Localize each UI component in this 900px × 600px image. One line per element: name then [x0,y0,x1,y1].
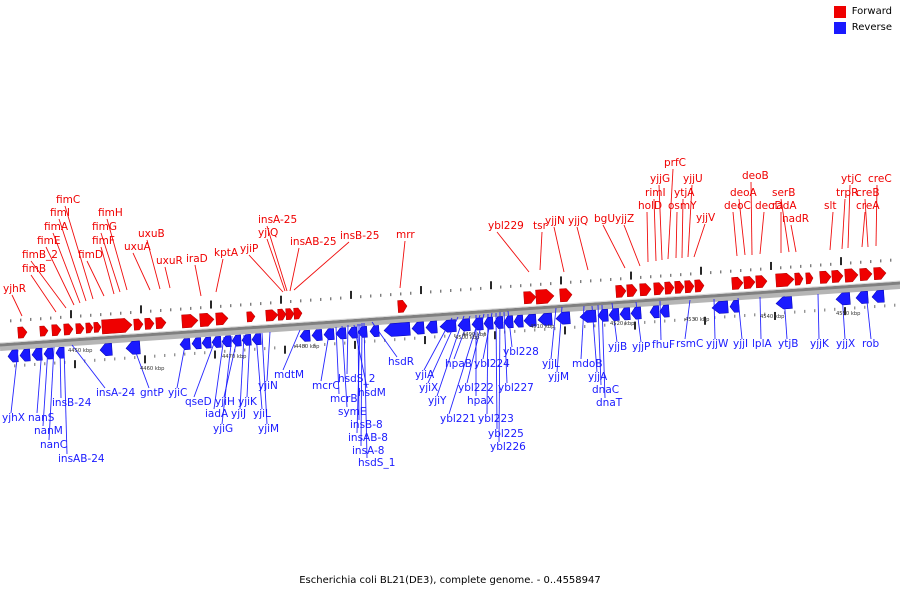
forward-gene-label[interactable]: fimE [37,235,60,247]
reverse-gene-label[interactable]: insA-24 [96,387,135,399]
reverse-gene-label[interactable]: mcrB [330,393,358,405]
reverse-gene-label[interactable]: ybl228 [503,346,539,358]
reverse-gene-arrow[interactable] [20,349,31,362]
reverse-gene-arrow[interactable] [484,317,494,330]
forward-gene-label[interactable]: deoB [742,170,769,182]
scale-tick-label: 4470 kbp [222,354,247,360]
forward-gene-arrow[interactable] [294,308,303,320]
forward-gene-arrow[interactable] [18,327,28,339]
forward-gene-label[interactable]: ytjC [841,173,862,185]
forward-gene-arrow[interactable] [52,324,62,336]
forward-gene-arrow[interactable] [286,308,295,320]
forward-gene-label[interactable]: holD [638,200,662,212]
forward-gene-label[interactable]: osmY [668,200,697,212]
forward-gene-label[interactable]: fimD [78,249,103,261]
reverse-gene-arrow[interactable] [312,329,323,341]
reverse-gene-label[interactable]: yjjL [542,358,560,370]
reverse-gene-arrow[interactable] [100,343,113,356]
reverse-gene-label[interactable]: insA-8 [352,445,384,457]
forward-gene-arrow[interactable] [756,275,768,288]
reverse-gene-arrow[interactable] [202,337,212,349]
forward-gene-arrow[interactable] [627,284,638,297]
reverse-gene-label[interactable]: ybl226 [490,441,526,453]
forward-gene-label[interactable]: yjiP [240,243,258,255]
forward-gene-label[interactable]: uxuR [156,255,183,267]
forward-gene-label[interactable]: iraD [186,253,208,265]
reverse-gene-arrow[interactable] [730,300,740,313]
forward-gene-label[interactable]: fimB_2 [22,249,58,261]
forward-gene-label[interactable]: rimI [645,187,666,199]
forward-gene-label[interactable]: ytjA [674,187,695,199]
forward-gene-label[interactable]: mrr [396,229,415,241]
genome-map-view: yjhRfimBfimB_2fimEfimAfimIfimCfimDfimFfi… [0,0,900,600]
forward-gene-label[interactable]: fimC [56,194,80,206]
forward-gene-arrow[interactable] [86,323,94,333]
reverse-gene-label[interactable]: hsdR [388,356,414,368]
reverse-gene-arrow[interactable] [620,308,631,321]
reverse-gene-arrow[interactable] [44,348,54,360]
reverse-gene-arrow[interactable] [660,305,670,318]
reverse-gene-label[interactable]: yjiA [415,369,435,381]
forward-gene-label[interactable]: uxuA [124,241,152,253]
forward-gene-labels[interactable]: yjhRfimBfimB_2fimEfimAfimIfimCfimDfimFfi… [3,157,892,295]
scale-tick-label: 4450 kbp [68,348,93,354]
forward-gene-label[interactable]: fimA [44,221,69,233]
reverse-gene-arrow[interactable] [336,328,347,340]
forward-gene-arrow[interactable] [145,318,155,330]
reverse-gene-arrow[interactable] [192,338,202,350]
forward-gene-arrow[interactable] [266,309,279,321]
reverse-gene-label[interactable]: hsdS_1 [358,457,395,469]
forward-gene-label[interactable]: creA [856,200,880,212]
reverse-gene-label[interactable]: yjjA [588,371,608,383]
forward-gene-arrow[interactable] [832,270,844,283]
forward-color-swatch-icon [834,6,846,18]
reverse-gene-arrow[interactable] [426,321,438,334]
reverse-gene-label[interactable]: yjjW [706,338,729,350]
forward-gene-label[interactable]: creB [856,187,880,199]
reverse-gene-label[interactable]: yjiJ [231,408,246,420]
forward-gene-arrow[interactable] [776,273,795,287]
reverse-gene-labels[interactable]: yjhXnanSnanMnanCinsB-24insA-24insAB-24gn… [2,338,880,469]
reverse-gene-arrow[interactable] [556,312,571,325]
reverse-gene-arrow[interactable] [384,322,411,337]
reverse-gene-arrow[interactable] [598,309,609,322]
forward-gene-arrow[interactable] [247,311,256,322]
reverse-gene-label[interactable]: yjiY [428,395,447,407]
reverse-color-swatch-icon [834,22,846,34]
legend-label-reverse: Reverse [852,22,892,34]
forward-gene-arrow[interactable] [806,273,814,284]
legend-item-forward: Forward [834,6,892,18]
forward-gene-label[interactable]: yjjV [696,212,716,224]
reverse-gene-arrow[interactable] [514,315,524,328]
reverse-gene-label[interactable]: hpaB [445,358,472,370]
reverse-gene-label[interactable]: ytjB [778,338,798,350]
forward-gene-label[interactable]: yjhR [3,283,26,295]
reverse-gene-label[interactable]: ybl221 [440,413,476,425]
forward-gene-arrow[interactable] [860,268,873,281]
forward-gene-label[interactable]: deoA [730,187,758,199]
reverse-gene-label[interactable]: rob [862,338,880,350]
reverse-gene-label[interactable]: hsdM [358,387,386,399]
reverse-gene-label[interactable]: yjiK [238,396,258,408]
reverse-gene-label[interactable]: qseD [185,396,212,408]
scale-tick-label: 4460 kbp [140,366,165,372]
forward-gene-arrow[interactable] [820,271,832,284]
forward-gene-arrow[interactable] [845,268,859,282]
reverse-gene-label[interactable]: nanM [34,425,63,437]
reverse-gene-arrow[interactable] [580,310,597,323]
reverse-gene-label[interactable]: yjjM [548,371,569,383]
reverse-gene-arrow[interactable] [358,326,368,338]
forward-gene-label[interactable]: slt [824,200,837,212]
reverse-gene-label[interactable]: ybl223 [478,413,514,425]
legend: Forward Reverse [834,6,892,38]
reverse-gene-label[interactable]: yjiG [213,423,233,435]
reverse-gene-label[interactable]: nanC [40,439,67,451]
reverse-gene-label[interactable]: insAB-24 [58,453,105,465]
reverse-gene-label[interactable]: yjhX [2,412,25,424]
reverse-gene-arrow[interactable] [494,316,504,329]
legend-label-forward: Forward [852,6,892,18]
forward-gene-arrow[interactable] [200,313,215,327]
forward-gene-arrow[interactable] [524,291,537,304]
reverse-gene-label[interactable]: yjiN [258,380,278,392]
forward-gene-arrow[interactable] [874,267,887,280]
reverse-gene-label[interactable]: yjjX [836,338,855,350]
forward-gene-arrow[interactable] [156,317,167,329]
forward-gene-arrow[interactable] [102,318,133,334]
forward-gene-label[interactable]: insA-25 [258,214,297,226]
reverse-gene-label[interactable]: mcrC [312,380,340,392]
forward-gene-label[interactable]: fimI [50,207,70,219]
forward-gene-label[interactable]: insB-25 [340,230,379,242]
forward-gene-label[interactable]: yjjG [650,173,670,185]
forward-gene-label[interactable]: fimB [22,263,46,275]
legend-item-reverse: Reverse [834,22,892,34]
reverse-gene-arrow[interactable] [126,341,141,355]
forward-gene-label[interactable]: insAB-25 [290,236,337,248]
reverse-gene-label[interactable]: hsdS_2 [338,373,375,385]
reverse-gene-label[interactable]: yjjB [608,341,627,353]
reverse-gene-label[interactable]: ybl224 [474,358,510,370]
reverse-gene-label[interactable]: yjjP [632,341,650,353]
forward-gene-arrow[interactable] [134,319,144,331]
reverse-gene-arrow[interactable] [872,290,885,303]
forward-gene-label[interactable]: fimG [92,221,117,233]
reverse-gene-label[interactable]: dnaC [592,384,619,396]
reverse-gene-arrow[interactable] [631,307,642,320]
forward-gene-arrow[interactable] [695,280,705,293]
genome-map-svg: yjhRfimBfimB_2fimEfimAfimIfimCfimDfimFfi… [0,0,900,600]
forward-gene-arrow[interactable] [560,288,573,302]
forward-gene-arrow[interactable] [216,312,229,325]
reverse-gene-label[interactable]: lplA [752,338,772,350]
forward-gene-label[interactable]: yjjU [683,173,703,185]
scale-tick-label: 4550 kbp [836,311,861,317]
reverse-gene-label[interactable]: hpaX [467,395,494,407]
reverse-gene-label[interactable]: fhuF [652,339,675,351]
forward-gene-label[interactable]: serB [772,187,795,199]
reverse-gene-label[interactable]: yjiX [419,382,438,394]
scale-tick-label: 4530 kbp [685,317,710,323]
forward-gene-label[interactable]: deoC [724,200,751,212]
reverse-gene-label[interactable]: mdoB [572,358,603,370]
reverse-gene-label[interactable]: nanS [28,412,55,424]
forward-gene-arrow[interactable] [665,282,675,295]
page-title: Escherichia coli BL21(DE3), complete gen… [0,575,900,586]
forward-gene-arrow[interactable] [654,282,665,295]
forward-gene-label[interactable]: fimH [98,207,123,219]
reverse-gene-arrow[interactable] [300,330,311,342]
reverse-gene-label[interactable]: insAB-8 [348,432,388,444]
reverse-gene-label[interactable]: rsmC [676,338,703,350]
forward-gene-label[interactable]: prfC [664,157,686,169]
forward-gene-arrow[interactable] [685,280,695,293]
reverse-gene-arrow[interactable] [370,325,380,337]
forward-gene-label[interactable]: yjjN [545,215,565,227]
reverse-gene-arrow[interactable] [650,306,660,319]
forward-gene-arrow[interactable] [795,273,804,286]
scale-tick-label: 4520 kbp [610,321,635,327]
scale-tick-label: 4500 kbp [455,335,480,341]
forward-gene-label[interactable]: radA [772,200,797,212]
forward-gene-arrow[interactable] [278,309,287,321]
reverse-gene-label[interactable]: mdtM [274,369,304,381]
forward-gene-arrow[interactable] [398,300,408,313]
reverse-gene-label[interactable]: iadA [205,408,229,420]
forward-gene-label[interactable]: creC [868,173,892,185]
forward-gene-arrow[interactable] [76,323,85,334]
reverse-gene-label[interactable]: insB-24 [52,397,92,409]
reverse-gene-label[interactable]: symE [338,406,367,418]
forward-gene-label[interactable]: nadR [782,213,809,225]
forward-gene-label[interactable]: yjjQ [568,215,588,227]
reverse-gene-label[interactable]: yjiH [215,396,235,408]
reverse-gene-label[interactable]: insB-8 [350,419,383,431]
reverse-gene-label[interactable]: ybl222 [458,382,494,394]
forward-gene-label[interactable]: fimF [92,235,115,247]
forward-gene-arrow[interactable] [64,323,74,335]
forward-gene-label[interactable]: yjiQ [258,227,278,239]
reverse-gene-label[interactable]: yjiL [253,408,271,420]
forward-gene-arrow[interactable] [616,285,627,298]
reverse-gene-label[interactable]: gntP [140,387,164,399]
forward-gene-label[interactable]: kptA [214,247,239,259]
reverse-gene-label[interactable]: ybl225 [488,428,524,440]
forward-gene-label[interactable]: uxuB [138,228,165,240]
scale-tick-label: 4540 kbp [760,314,785,320]
reverse-gene-label[interactable]: yjiM [258,423,279,435]
forward-gene-label[interactable]: ybl229 [488,220,524,232]
reverse-gene-label[interactable]: yjjI [733,338,748,350]
forward-gene-arrow[interactable] [675,281,685,294]
forward-gene-arrow[interactable] [744,276,756,289]
reverse-gene-arrow[interactable] [412,322,425,335]
forward-gene-arrow[interactable] [94,322,102,332]
forward-gene-arrow[interactable] [40,326,49,337]
forward-gene-arrow[interactable] [182,314,199,328]
scale-tick-label: 4480 kbp [295,344,320,350]
reverse-gene-label[interactable]: dnaT [596,397,623,409]
forward-gene-arrow[interactable] [536,289,555,304]
forward-gene-arrow[interactable] [640,283,652,296]
forward-gene-label[interactable]: bgU [594,213,615,225]
reverse-gene-label[interactable]: yjjK [810,338,830,350]
reverse-gene-label[interactable]: ybl227 [498,382,534,394]
scale-tick-label: 4510 kbp [530,324,555,330]
forward-gene-arrow[interactable] [732,277,744,290]
forward-gene-label[interactable]: yjjZ [615,213,634,225]
